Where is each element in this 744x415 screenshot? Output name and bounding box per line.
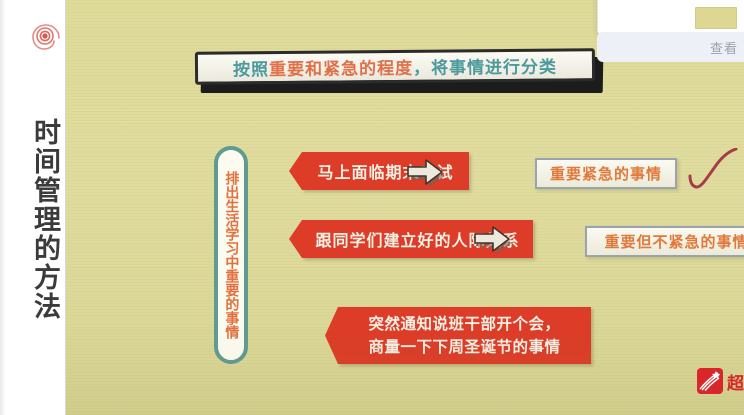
brand-logo: 超星尔雅 <box>697 367 744 395</box>
ribbon-notch <box>325 307 338 364</box>
brand-name: 超星尔雅 <box>727 369 744 394</box>
overlay-action-button[interactable]: 查看 <box>597 32 744 62</box>
heading-part-2: 重要和紧急的程度 <box>269 54 413 80</box>
brand-name-primary: 超星 <box>727 374 744 394</box>
source-list-box: 排出生活学习中重要的事情 <box>214 146 248 364</box>
gutter-shadow <box>0 0 6 415</box>
ribbon-notch <box>289 220 302 258</box>
task-ribbon-3-line-2: 商量一下下周圣诞节的事情 <box>368 336 560 358</box>
source-list-label: 排出生活学习中重要的事情 <box>224 171 239 339</box>
brand-mark-icon <box>697 368 723 394</box>
result-box-1-label: 重要紧急的事情 <box>550 163 662 184</box>
result-box-2: 重要但不紧急的事情 <box>585 226 744 257</box>
slide-vertical-title: 时间管理的方法 <box>19 118 59 321</box>
slide-canvas: 按照重要和紧急的程度，将事情进行分类 排出生活学习中重要的事情 马上面临期末考试… <box>66 0 744 415</box>
screen: 时间管理的方法 按照重要和紧急的程度，将事情进行分类 排出生活学习中重要的事情 … <box>0 0 744 415</box>
overlay-action-label: 查看 <box>710 38 738 57</box>
ribbon-notch <box>289 152 302 190</box>
result-box-1: 重要紧急的事情 <box>535 158 677 189</box>
task-ribbon-3-line-1: 突然通知说班干部开个会， <box>368 313 560 335</box>
left-gutter: 时间管理的方法 <box>0 0 66 415</box>
heading-part-1: 按照 <box>233 55 269 80</box>
task-ribbon-3: 突然通知说班干部开个会， 商量一下下周圣诞节的事情 <box>338 307 591 364</box>
check-mark-icon <box>686 148 742 202</box>
heading-banner: 按照重要和紧急的程度，将事情进行分类 <box>195 50 603 94</box>
block-arrow-right-icon-1 <box>403 155 447 189</box>
result-box-2-label: 重要但不紧急的事情 <box>604 231 744 252</box>
overlay-panel <box>597 0 744 34</box>
banner-frame: 按照重要和紧急的程度，将事情进行分类 <box>195 48 595 84</box>
overlay-thumbnail <box>695 7 737 29</box>
block-arrow-right-icon-2 <box>470 222 514 256</box>
heading-part-3: ，将事情进行分类 <box>413 53 557 79</box>
target-spiral-icon[interactable] <box>30 19 62 51</box>
